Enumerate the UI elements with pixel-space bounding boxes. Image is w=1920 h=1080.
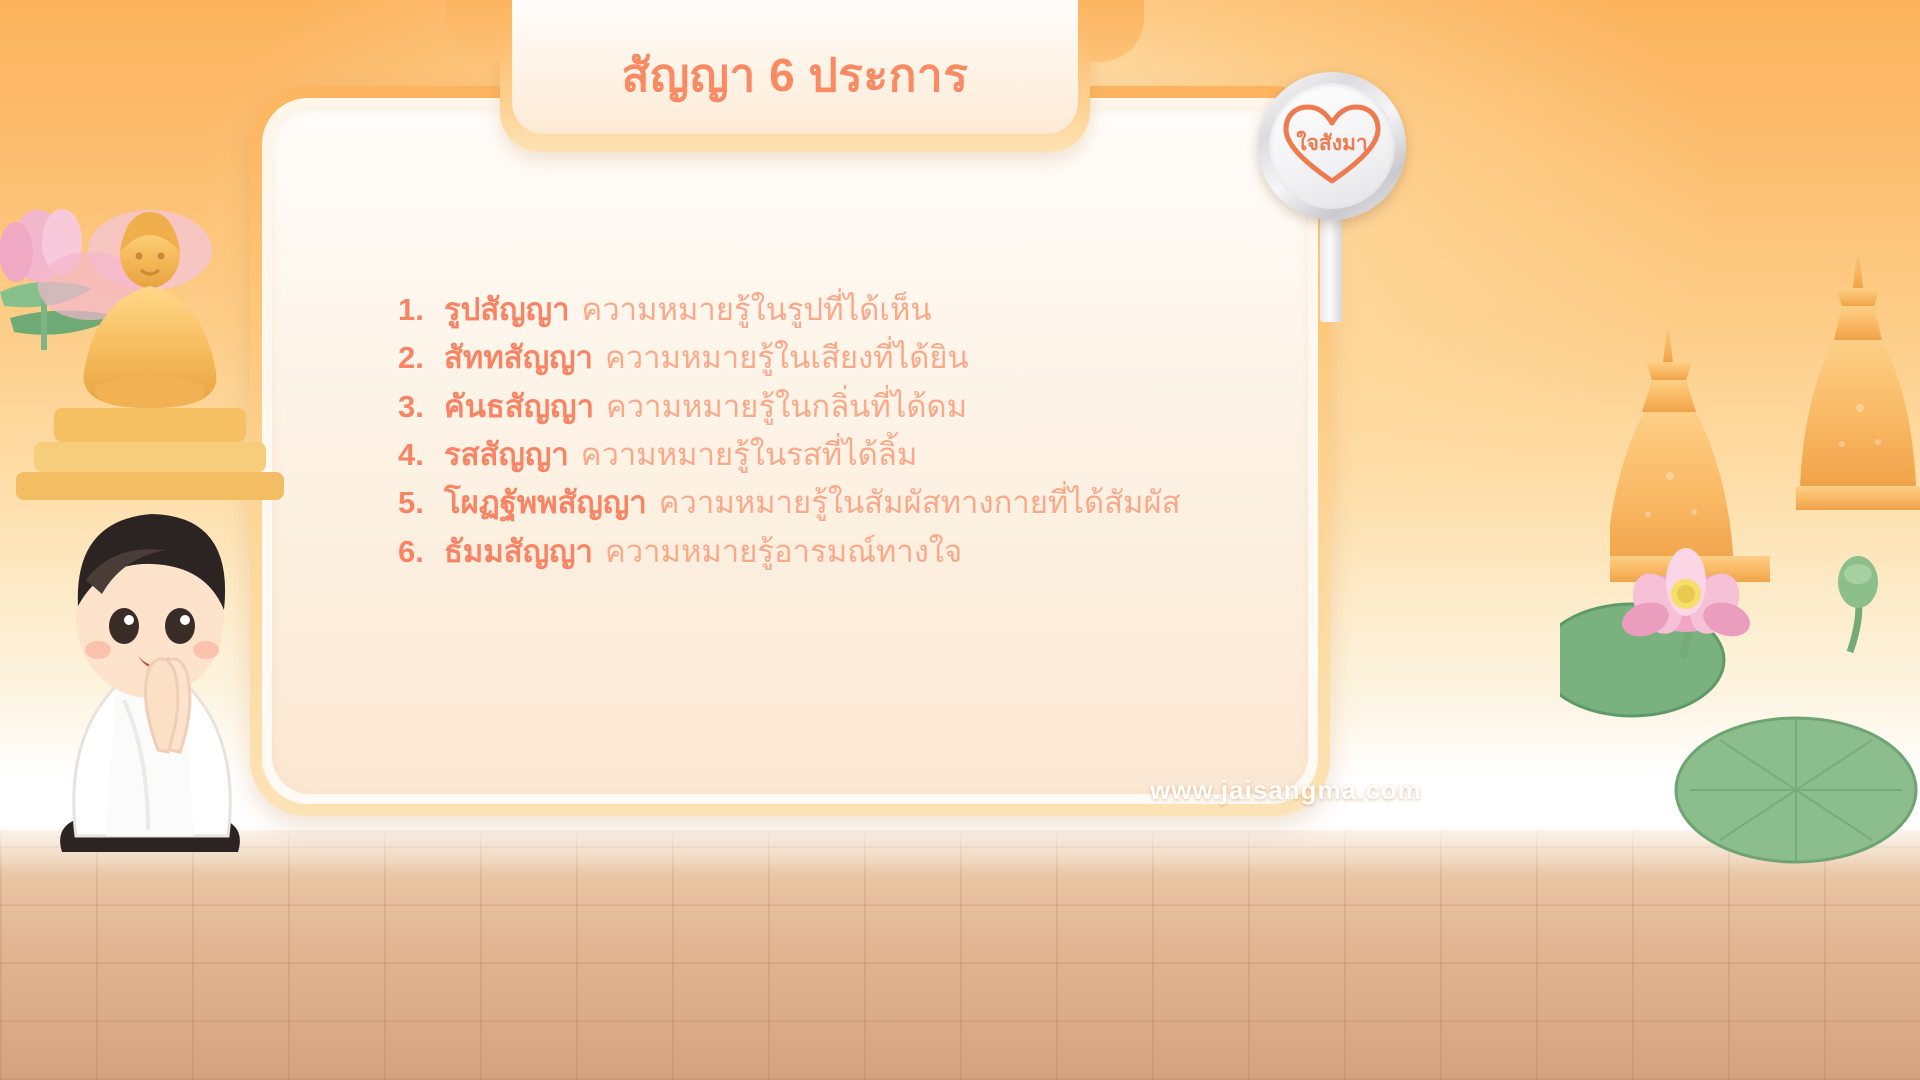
footer-website-url[interactable]: www.jaisangma.com <box>1150 775 1422 806</box>
list-item-desc: ความหมายรู้ในสัมผัสทางกายที่ได้สัมผัส <box>659 479 1181 527</box>
tiled-floor <box>0 830 1920 1080</box>
list-item-desc: ความหมายรู้ในกลิ่นที่ได้ดม <box>606 383 967 431</box>
title-banner: สัญญา 6 ประการ <box>500 0 1090 152</box>
list-item-desc: ความหมายรู้ในเสียงที่ได้ยิน <box>605 334 969 382</box>
list-item: 6. ธัมมสัญญา ความหมายรู้อารมณ์ทางใจ <box>398 528 1318 576</box>
list-item: 3. คันธสัญญา ความหมายรู้ในกลิ่นที่ได้ดม <box>398 383 1318 431</box>
list-item-term: รสสัญญา <box>444 431 569 479</box>
list-item-term: โผฏฐัพพสัญญา <box>444 479 647 527</box>
slide-canvas: สัญญา 6 ประการ 1. รูปสัญญา ความหมายรู้ใน… <box>0 0 1920 1080</box>
title-banner-face: สัญญา 6 ประการ <box>512 0 1078 134</box>
logo-brand-text: ใจสังมา <box>1296 127 1367 160</box>
list-item-desc: ความหมายรู้ในรูปที่ได้เห็น <box>581 286 931 334</box>
list-item-desc: ความหมายรู้อารมณ์ทางใจ <box>605 528 962 576</box>
list-item-term: สัททสัญญา <box>444 334 593 382</box>
list-item-term: รูปสัญญา <box>444 286 569 334</box>
brand-logo[interactable]: ใจสังมา <box>1258 72 1406 220</box>
definition-list: 1. รูปสัญญา ความหมายรู้ในรูปที่ได้เห็น 2… <box>398 286 1318 576</box>
list-item-number: 5. <box>398 479 432 527</box>
list-item: 5. โผฏฐัพพสัญญา ความหมายรู้ในสัมผัสทางกา… <box>398 479 1318 527</box>
list-item-desc: ความหมายรู้ในรสที่ได้ลิ้ม <box>581 431 918 479</box>
list-item: 1. รูปสัญญา ความหมายรู้ในรูปที่ได้เห็น <box>398 286 1318 334</box>
list-item-number: 6. <box>398 528 432 576</box>
list-item: 2. สัททสัญญา ความหมายรู้ในเสียงที่ได้ยิน <box>398 334 1318 382</box>
list-item-term: ธัมมสัญญา <box>444 528 593 576</box>
list-item-number: 4. <box>398 431 432 479</box>
list-item-number: 3. <box>398 383 432 431</box>
list-item: 4. รสสัญญา ความหมายรู้ในรสที่ได้ลิ้ม <box>398 431 1318 479</box>
list-item-number: 1. <box>398 286 432 334</box>
list-item-number: 2. <box>398 334 432 382</box>
list-item-term: คันธสัญญา <box>444 383 594 431</box>
page-title: สัญญา 6 ประการ <box>622 23 969 112</box>
logo-face: ใจสังมา <box>1269 83 1395 209</box>
